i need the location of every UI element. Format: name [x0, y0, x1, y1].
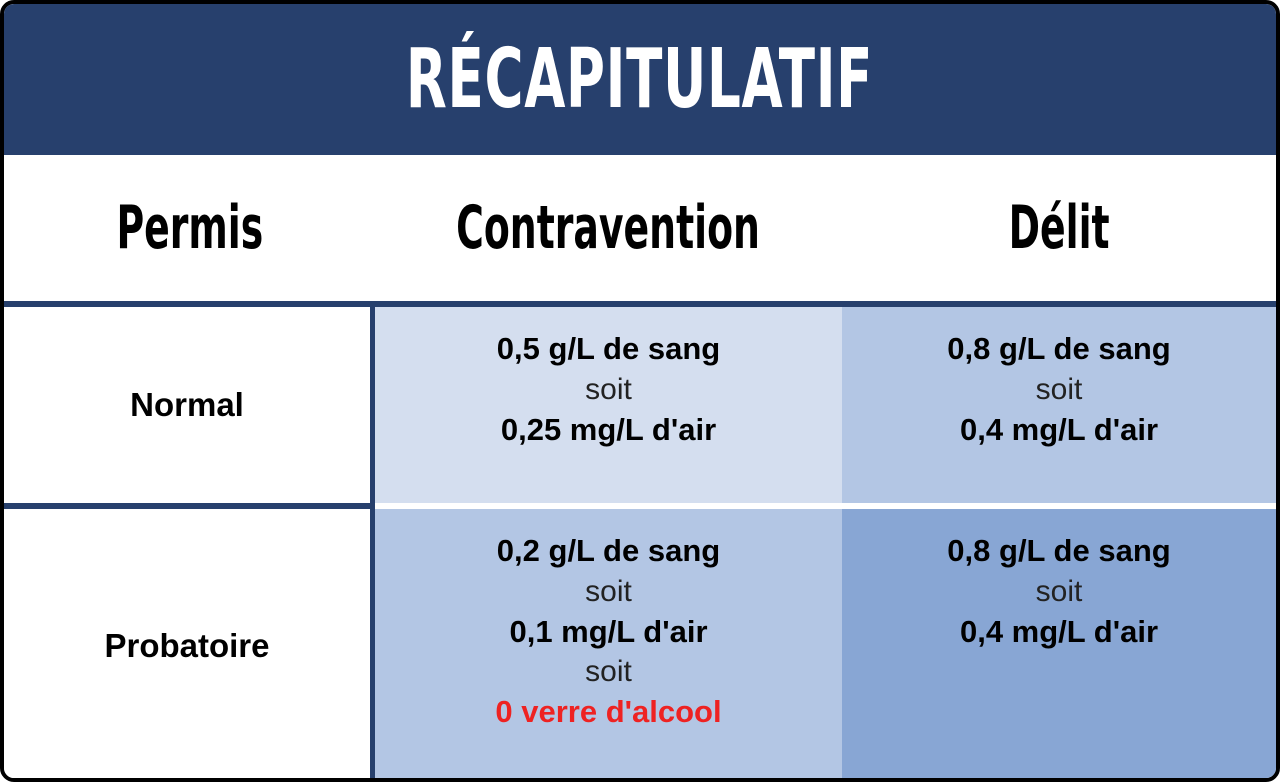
table-header-row: Permis Contravention Délit [4, 155, 1276, 301]
value-line: 0,8 g/L de sang [947, 531, 1170, 572]
column-header-permis: Permis [4, 155, 375, 301]
value-line: 0,25 mg/L d'air [501, 410, 716, 451]
value-line-alert: 0 verre d'alcool [495, 692, 721, 733]
value-line: 0,4 mg/L d'air [960, 612, 1158, 653]
value-line: 0,8 g/L de sang [947, 329, 1170, 370]
value-connector: soit [585, 572, 632, 612]
table-row-probatoire: Probatoire 0,2 g/L de sang soit 0,1 mg/L… [4, 509, 1276, 782]
cell-normal-contravention: 0,5 g/L de sang soit 0,25 mg/L d'air [375, 307, 842, 503]
row-label-normal: Normal [130, 386, 244, 424]
value-line: 0,1 mg/L d'air [509, 612, 707, 653]
value-line: 0,5 g/L de sang [497, 329, 720, 370]
column-header-contravention: Contravention [375, 155, 842, 301]
table-body: Normal 0,5 g/L de sang soit 0,25 mg/L d'… [4, 307, 1276, 782]
value-connector: soit [585, 652, 632, 692]
value-connector: soit [1036, 370, 1083, 410]
cell-probatoire-delit: 0,8 g/L de sang soit 0,4 mg/L d'air [842, 509, 1276, 782]
column-header-contravention-label: Contravention [457, 198, 761, 258]
cell-normal-delit: 0,8 g/L de sang soit 0,4 mg/L d'air [842, 307, 1276, 503]
row-label-cell-probatoire: Probatoire [4, 509, 375, 782]
value-line: 0,4 mg/L d'air [960, 410, 1158, 451]
column-header-delit: Délit [842, 155, 1276, 301]
title-band: RÉCAPITULATIF [4, 4, 1276, 155]
column-header-delit-label: Délit [1009, 198, 1110, 258]
cell-probatoire-contravention: 0,2 g/L de sang soit 0,1 mg/L d'air soit… [375, 509, 842, 782]
row-label-cell-normal: Normal [4, 307, 375, 503]
recap-table-card: RÉCAPITULATIF Permis Contravention Délit… [0, 0, 1280, 782]
table-row-normal: Normal 0,5 g/L de sang soit 0,25 mg/L d'… [4, 307, 1276, 503]
page-title: RÉCAPITULATIF [406, 39, 873, 121]
row-label-probatoire: Probatoire [104, 627, 269, 665]
column-header-permis-label: Permis [116, 198, 263, 258]
value-connector: soit [1036, 572, 1083, 612]
value-connector: soit [585, 370, 632, 410]
value-line: 0,2 g/L de sang [497, 531, 720, 572]
